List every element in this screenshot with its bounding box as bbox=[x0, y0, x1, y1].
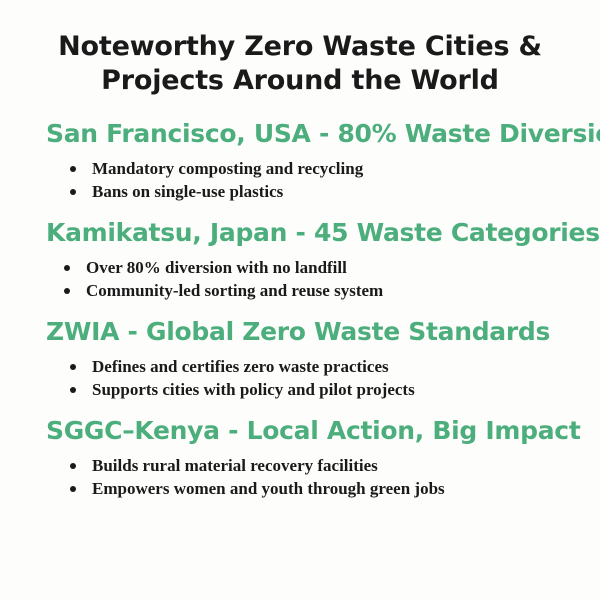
list-item-text: Builds rural material recovery facilitie… bbox=[92, 456, 378, 475]
section-heading-zwia: ZWIA - Global Zero Waste Standards bbox=[46, 316, 580, 347]
section-zwia: ZWIA - Global Zero Waste Standards Defin… bbox=[0, 316, 600, 401]
bullet-dot-icon bbox=[70, 463, 76, 469]
bullet-dot-icon bbox=[70, 166, 76, 172]
list-item: Bans on single-use plastics bbox=[62, 180, 580, 203]
bullet-list-kamikatsu: Over 80% diversion with no landfill Comm… bbox=[46, 256, 580, 302]
bullet-list-san-francisco: Mandatory composting and recycling Bans … bbox=[46, 157, 580, 203]
list-item: Over 80% diversion with no landfill bbox=[56, 256, 580, 279]
list-item-text: Defines and certifies zero waste practic… bbox=[92, 357, 389, 376]
bullet-dot-icon bbox=[70, 486, 76, 492]
section-heading-sggc-kenya: SGGC–Kenya - Local Action, Big Impact bbox=[46, 415, 580, 446]
list-item: Builds rural material recovery facilitie… bbox=[62, 454, 580, 477]
section-heading-kamikatsu: Kamikatsu, Japan - 45 Waste Categories bbox=[46, 217, 580, 248]
list-item-text: Bans on single-use plastics bbox=[92, 182, 283, 201]
bullet-dot-icon bbox=[70, 364, 76, 370]
bullet-dot-icon bbox=[70, 189, 76, 195]
list-item-text: Over 80% diversion with no landfill bbox=[86, 258, 347, 277]
list-item-text: Mandatory composting and recycling bbox=[92, 159, 363, 178]
section-san-francisco: San Francisco, USA - 80% Waste Diversion… bbox=[0, 118, 600, 203]
list-item-text: Supports cities with policy and pilot pr… bbox=[92, 380, 415, 399]
page-title-line-1: Noteworthy Zero Waste Cities & bbox=[0, 30, 600, 64]
page-title-line-2: Projects Around the World bbox=[0, 64, 600, 98]
page-title: Noteworthy Zero Waste Cities & Projects … bbox=[0, 0, 600, 98]
list-item: Supports cities with policy and pilot pr… bbox=[62, 378, 580, 401]
poster-canvas: Noteworthy Zero Waste Cities & Projects … bbox=[0, 0, 600, 600]
section-sggc-kenya: SGGC–Kenya - Local Action, Big Impact Bu… bbox=[0, 415, 600, 500]
bullet-list-sggc-kenya: Builds rural material recovery facilitie… bbox=[46, 454, 580, 500]
bullet-dot-icon bbox=[64, 265, 70, 271]
list-item: Community-led sorting and reuse system bbox=[56, 279, 580, 302]
bullet-dot-icon bbox=[64, 288, 70, 294]
section-kamikatsu: Kamikatsu, Japan - 45 Waste Categories O… bbox=[0, 217, 600, 302]
sections-list: San Francisco, USA - 80% Waste Diversion… bbox=[0, 118, 600, 500]
list-item: Empowers women and youth through green j… bbox=[62, 477, 580, 500]
section-heading-san-francisco: San Francisco, USA - 80% Waste Diversion bbox=[46, 118, 580, 149]
list-item-text: Empowers women and youth through green j… bbox=[92, 479, 445, 498]
bullet-list-zwia: Defines and certifies zero waste practic… bbox=[46, 355, 580, 401]
list-item: Mandatory composting and recycling bbox=[62, 157, 580, 180]
list-item-text: Community-led sorting and reuse system bbox=[86, 281, 383, 300]
bullet-dot-icon bbox=[70, 387, 76, 393]
list-item: Defines and certifies zero waste practic… bbox=[62, 355, 580, 378]
